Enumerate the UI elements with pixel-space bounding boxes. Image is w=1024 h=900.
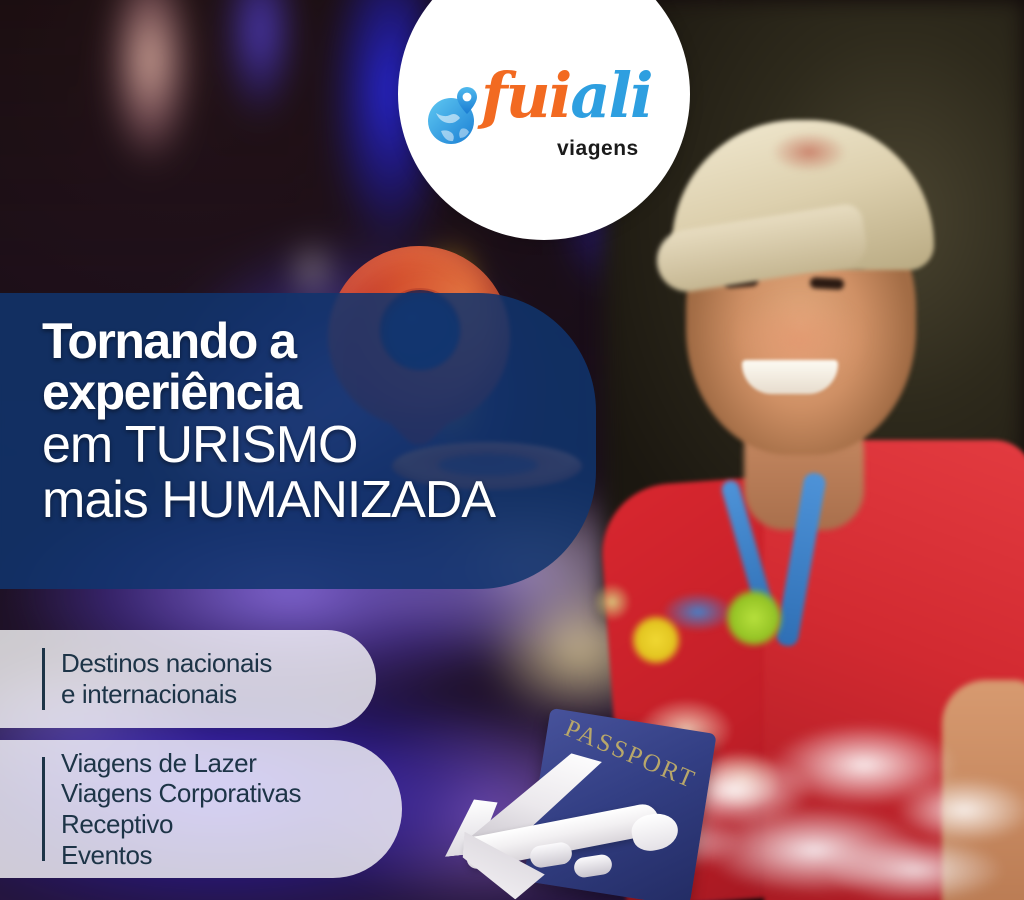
- service-line: Eventos: [61, 840, 301, 871]
- headline-line-2: experiência: [42, 367, 622, 418]
- headline-line-1: Tornando a: [42, 316, 622, 367]
- airplane-icon: [434, 744, 674, 894]
- plane-engine-2: [573, 853, 614, 879]
- arm: [942, 680, 1024, 900]
- headline-line-3: em TURISMO: [42, 418, 622, 473]
- service-box-destinations-text: Destinos nacionais e internacionais: [61, 648, 272, 709]
- service-line: Viagens Corporativas: [61, 778, 301, 809]
- eye-right: [810, 277, 845, 290]
- logo-word-fui: fui: [481, 59, 570, 132]
- service-box-offerings: Viagens de Lazer Viagens Corporativas Re…: [0, 740, 402, 878]
- logo-inner: fuiali viagens: [419, 63, 669, 183]
- logo-word-ali: ali: [570, 59, 651, 132]
- travel-agency-poster: Tornando a experiência em TURISMO mais H…: [0, 0, 1024, 900]
- service-box-destinations: Destinos nacionais e internacionais: [0, 630, 376, 728]
- logo-subtitle: viagens: [557, 137, 639, 161]
- accent-bar: [42, 648, 45, 710]
- travel-props: PASSPORT: [430, 716, 730, 900]
- service-box-offerings-text: Viagens de Lazer Viagens Corporativas Re…: [61, 748, 301, 871]
- globe-with-pin-icon: [423, 85, 485, 147]
- smile: [742, 360, 838, 394]
- headline-line-4: mais HUMANIZADA: [42, 473, 622, 528]
- service-line: Destinos nacionais: [61, 648, 272, 679]
- logo-wordmark: fuiali: [481, 65, 652, 127]
- service-line: Viagens de Lazer: [61, 748, 301, 779]
- cap-logo: [772, 132, 846, 172]
- headline-block: Tornando a experiência em TURISMO mais H…: [42, 316, 622, 528]
- accent-bar: [42, 757, 45, 861]
- service-line: Receptivo: [61, 809, 301, 840]
- service-line: e internacionais: [61, 679, 272, 710]
